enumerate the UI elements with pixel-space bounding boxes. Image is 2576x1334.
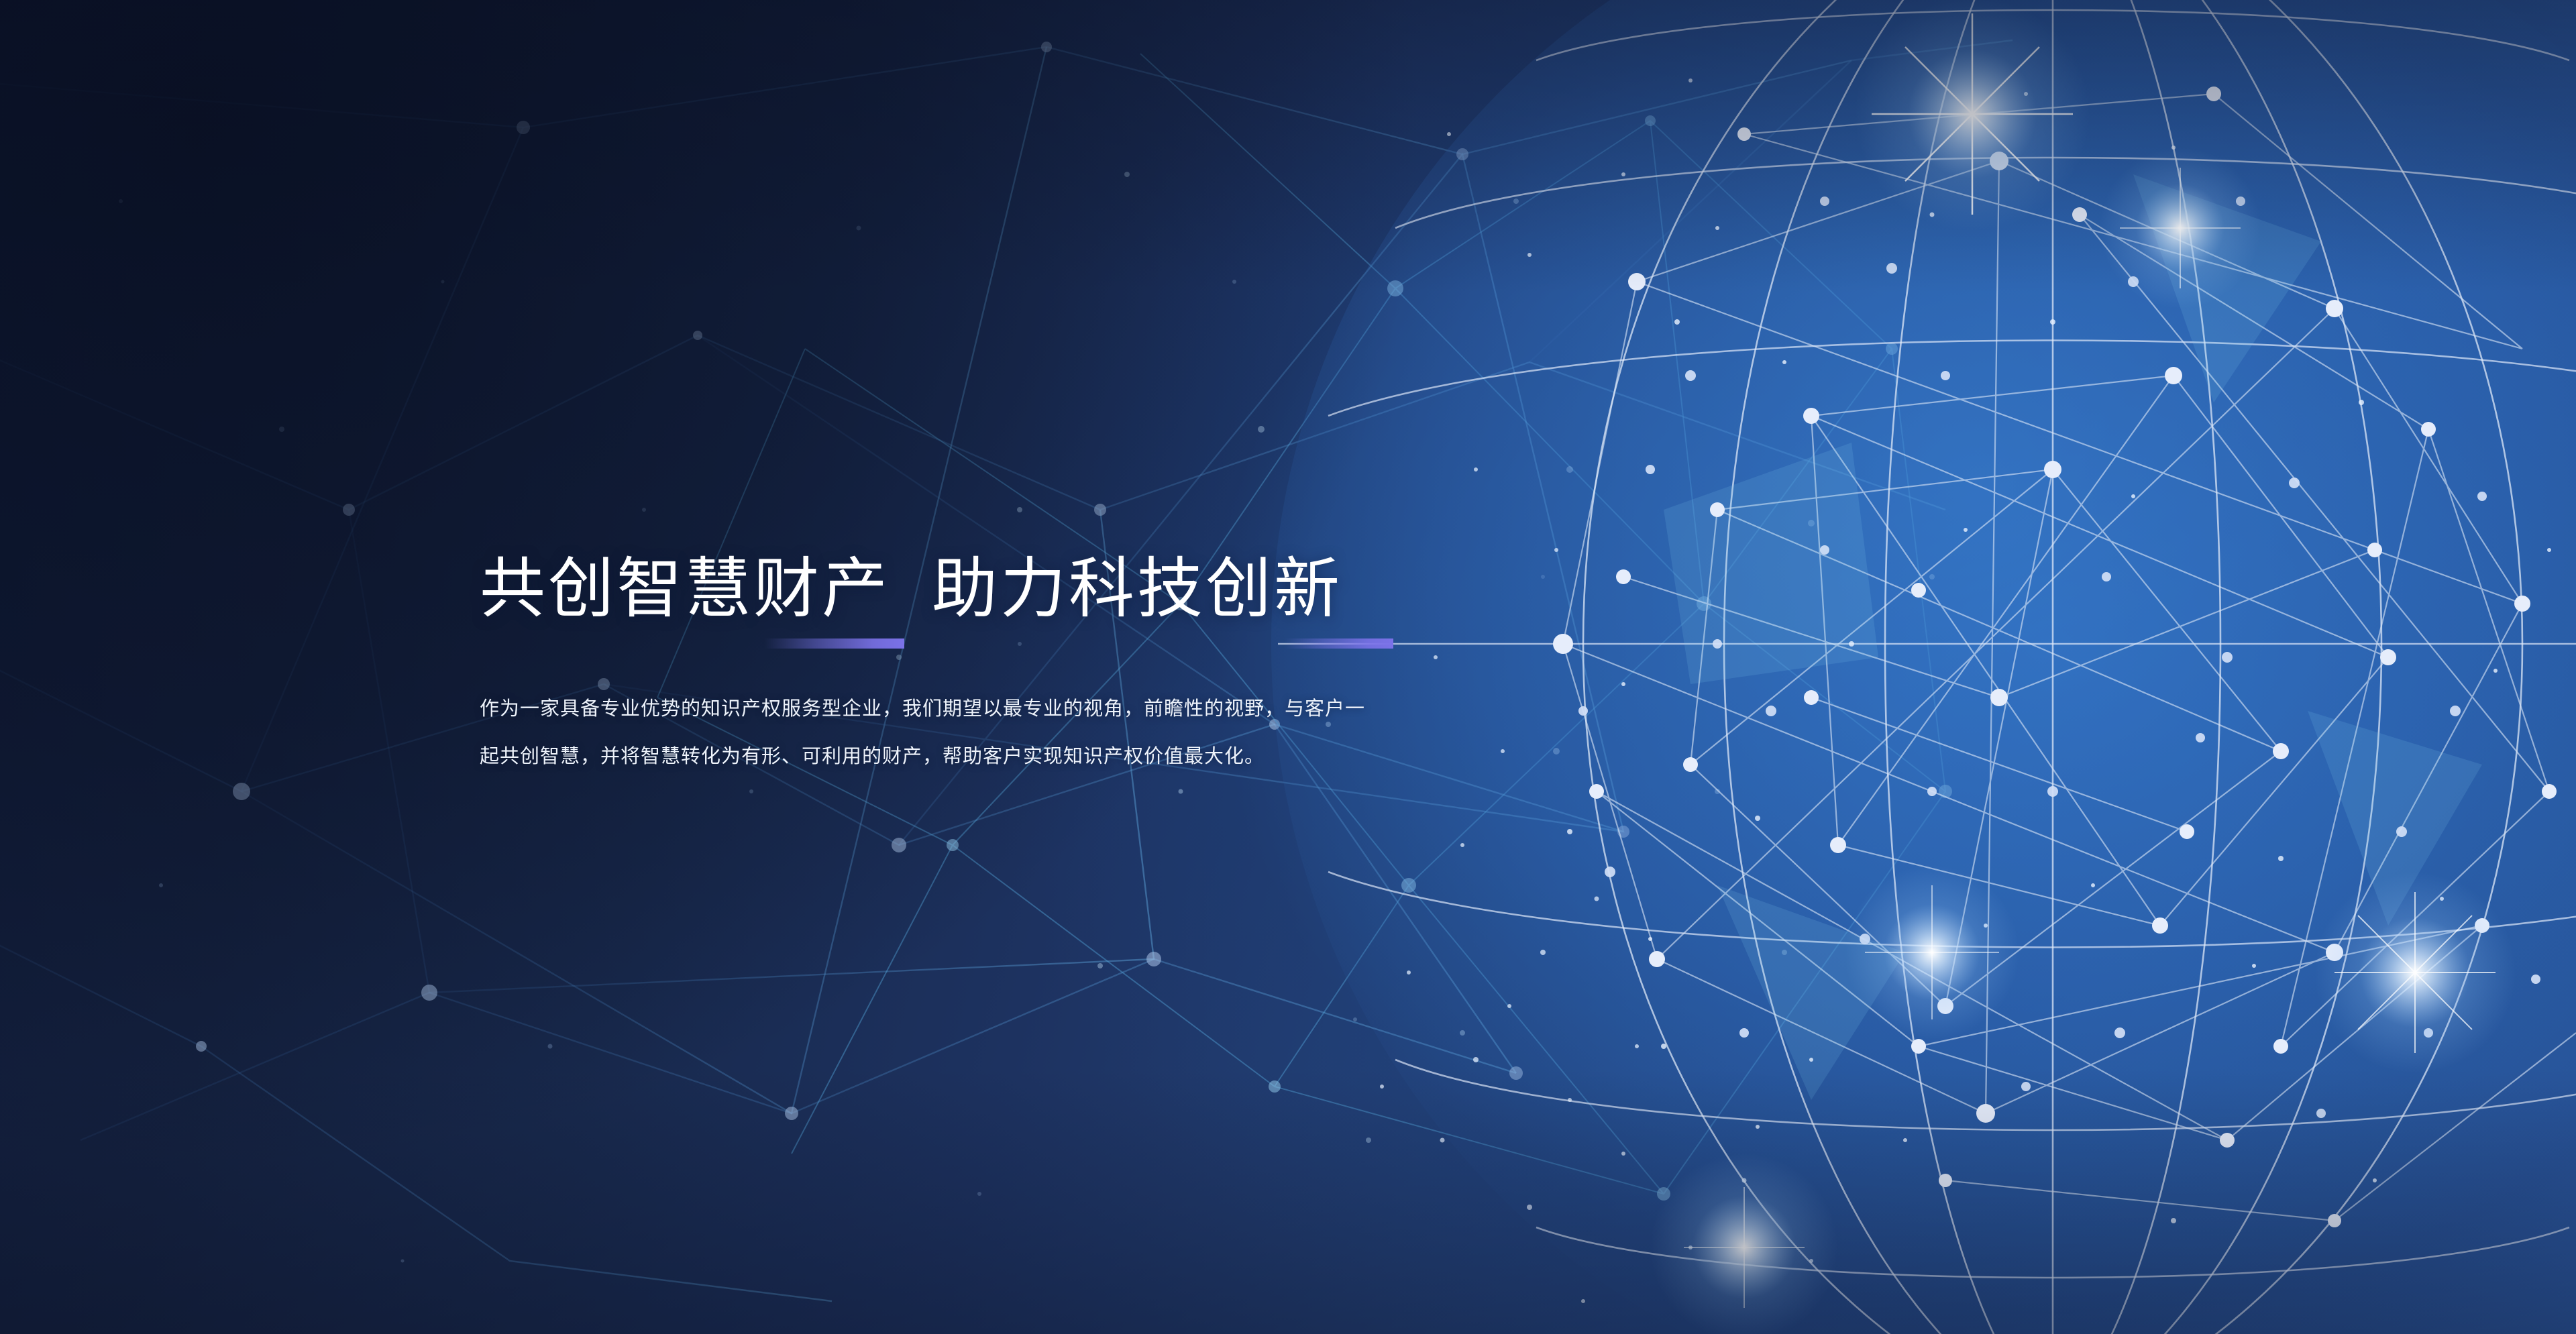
hero-banner: 共创智慧财产助力科技创新 作为一家具备专业优势的知识产权服务型企业，我们期望以最… (0, 0, 2576, 1334)
headline-part-1: 共创智慧财产 (480, 551, 890, 625)
hero-copy-block: 共创智慧财产助力科技创新 作为一家具备专业优势的知识产权服务型企业，我们期望以最… (480, 555, 1419, 800)
page-title: 共创智慧财产助力科技创新 (480, 555, 1419, 621)
accent-rule-left (765, 638, 904, 649)
accent-rule-right (1285, 638, 1393, 649)
hero-description: 作为一家具备专业优势的知识产权服务型企业，我们期望以最专业的视角，前瞻性的视野，… (480, 685, 1382, 781)
headline-part-2: 助力科技创新 (932, 551, 1342, 625)
accent-rules (480, 629, 1419, 656)
